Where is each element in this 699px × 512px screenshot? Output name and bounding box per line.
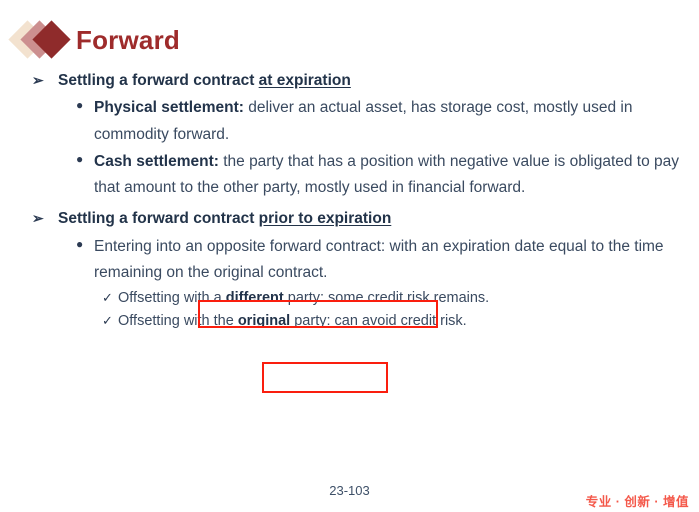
brand-watermark: 专业 · 创新 · 增值	[586, 491, 689, 510]
bullet-text-bold: original	[238, 313, 290, 329]
three-diamonds-logo-icon	[12, 18, 74, 62]
check-bullet-icon: ✓	[102, 310, 113, 331]
bullet-text-bold: different	[226, 290, 284, 306]
bullet-level3-offsetting-different-party: ✓ Offsetting with a different party: som…	[30, 287, 685, 310]
page-title: Forward	[76, 27, 180, 53]
bullet-level2-entering-opposite-contract: ● Entering into an opposite forward cont…	[30, 234, 685, 287]
bullet-text-before: Offsetting with a	[118, 290, 226, 306]
bullet-level1-settling-at-expiration: ➢ Settling a forward contract at expirat…	[30, 70, 685, 92]
bullet-text-underlined: prior to expiration	[259, 210, 392, 227]
bullet-text-after: some credit risk remains.	[324, 290, 489, 306]
disc-bullet-icon: ●	[76, 95, 83, 116]
bullet-level2-cash-settlement: ● Cash settlement: the party that has a …	[30, 149, 685, 202]
slide-canvas: Forward ➢ Settling a forward contract at…	[0, 0, 699, 512]
bullet-level1-settling-prior-to-expiration: ➢ Settling a forward contract prior to e…	[30, 208, 685, 230]
bullet-text-mid: party:	[284, 290, 324, 306]
arrow-bullet-icon: ➢	[32, 70, 44, 90]
slide-header: Forward	[0, 14, 699, 66]
bullet-text-plain: Settling a forward contract	[58, 72, 259, 89]
bullet-text-before: Offsetting with the	[118, 313, 238, 329]
annotation-box-different-party	[262, 362, 388, 393]
bullet-text-boxed: an opposite forward contract:	[185, 238, 385, 255]
slide-body: ➢ Settling a forward contract at expirat…	[30, 70, 685, 334]
bullet-text-underlined: at expiration	[259, 72, 351, 89]
disc-bullet-icon: ●	[76, 234, 83, 255]
bullet-text-mid: party:	[290, 313, 330, 329]
bullet-text-before: Entering into	[94, 238, 185, 255]
check-bullet-icon: ✓	[102, 287, 113, 308]
arrow-bullet-icon: ➢	[32, 208, 44, 228]
bullet-text-plain: Settling a forward contract	[58, 210, 259, 227]
bullet-level3-offsetting-original-party: ✓ Offsetting with the original party: ca…	[30, 310, 685, 333]
bullet-text-after: can avoid credit risk.	[331, 313, 467, 329]
bullet-label: Cash settlement:	[94, 153, 219, 170]
bullet-label: Physical settlement:	[94, 99, 244, 116]
disc-bullet-icon: ●	[76, 149, 83, 170]
bullet-level2-physical-settlement: ● Physical settlement: deliver an actual…	[30, 95, 685, 148]
